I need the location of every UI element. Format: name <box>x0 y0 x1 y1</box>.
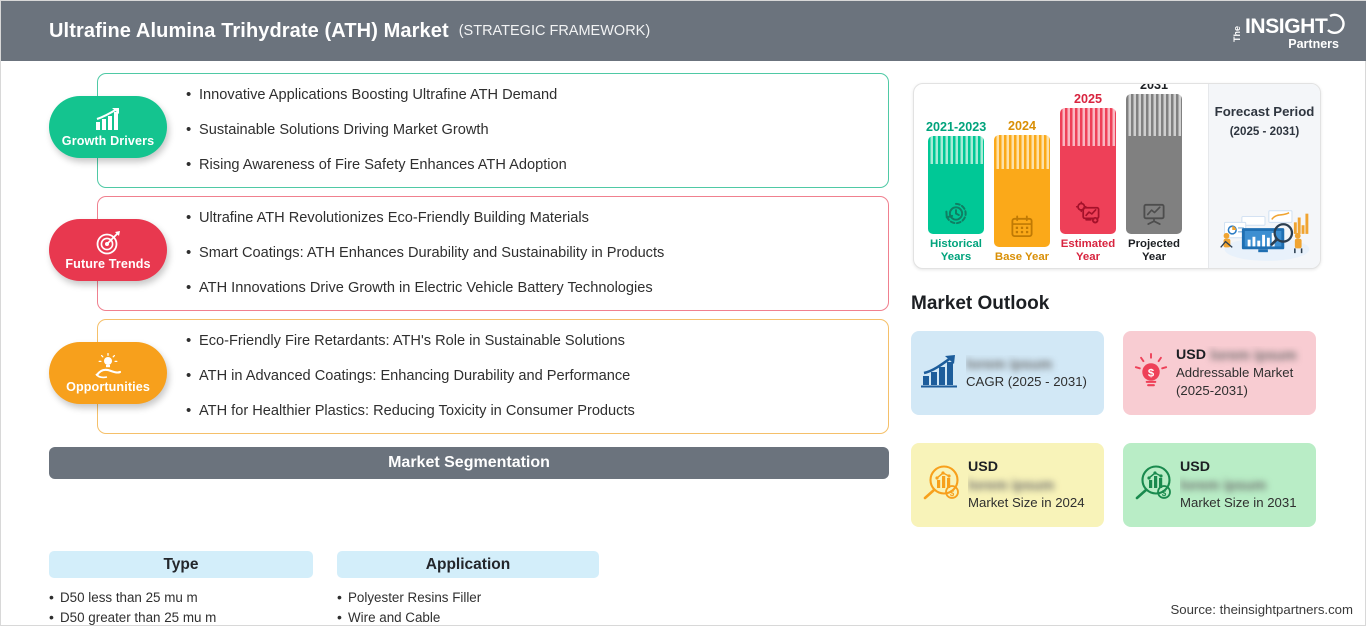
target-dart-icon <box>93 230 123 256</box>
badge-label: Growth Drivers <box>62 134 154 148</box>
svg-text:$: $ <box>1148 367 1155 379</box>
bar-shape <box>994 135 1050 247</box>
growth-bar-chart-icon <box>921 354 959 393</box>
outlook-usd-label: USD <box>1176 347 1206 363</box>
bar-caption: Historical Years <box>926 238 986 264</box>
outlook-value-blurred: lorem ipsum <box>966 357 1052 373</box>
svg-text:Partners: Partners <box>1288 37 1339 51</box>
bar-solid-body <box>994 169 1050 247</box>
outlook-caption: Addressable Market (2025-2031) <box>1176 365 1293 398</box>
bar-year-label: 2031 <box>1124 83 1184 92</box>
bar-striped-top <box>928 136 984 164</box>
badge-label: Future Trends <box>65 257 150 271</box>
outlook-caption: CAGR (2025 - 2031) <box>966 374 1087 389</box>
history-clock-icon <box>944 201 969 226</box>
market-outlook-title: Market Outlook <box>911 293 1049 315</box>
bar-solid-body <box>1126 136 1182 234</box>
list-item: Innovative Applications Boosting Ultrafi… <box>186 87 872 104</box>
magnifier-chart-icon: $ <box>1133 464 1173 507</box>
left-column: Innovative Applications Boosting Ultrafi… <box>1 61 901 626</box>
future-trends-bullet-list: Ultrafine ATH Revolutionizes Eco-Friendl… <box>98 197 888 310</box>
forecast-bar-projected: 2031 Projected Year <box>1124 83 1184 264</box>
outlook-card-market-size-2031[interactable]: $ USD lorem ipsum Market Size in 2031 <box>1123 443 1316 527</box>
opportunities-bullet-list: Eco-Friendly Fire Retardants: ATH's Role… <box>98 320 888 433</box>
svg-text:$: $ <box>950 489 955 498</box>
bar-solid-body <box>1060 146 1116 234</box>
forecast-bars-group: 2021-2023 Historical Years <box>914 84 1202 269</box>
dashboard-analytics-illustration <box>1213 200 1317 262</box>
segment-item-list: D50 less than 25 mu m D50 greater than 2… <box>49 588 313 626</box>
magnifier-chart-icon: $ <box>921 464 961 507</box>
right-column: 2021-2023 Historical Years <box>901 61 1366 626</box>
outlook-card-text: USD lorem ipsum Market Size in 2031 <box>1180 458 1306 512</box>
market-segmentation-title: Market Segmentation <box>388 454 550 472</box>
forecast-bar-historical: 2021-2023 Historical Years <box>926 120 986 264</box>
panel-opportunities: Eco-Friendly Fire Retardants: ATH's Role… <box>97 319 889 434</box>
bar-striped-top <box>994 135 1050 169</box>
page-subtitle: (STRATEGIC FRAMEWORK) <box>459 23 650 39</box>
list-item: Sustainable Solutions Driving Market Gro… <box>186 122 872 139</box>
outlook-card-text: lorem ipsum CAGR (2025 - 2031) <box>966 355 1094 391</box>
bar-caption: Estimated Year <box>1058 238 1118 264</box>
outlook-value-blurred: lorem ipsum <box>1180 478 1266 494</box>
svg-text:INSIGHT: INSIGHT <box>1245 15 1328 38</box>
bar-solid-body <box>928 164 984 234</box>
analytics-gear-icon <box>1076 201 1101 226</box>
panel-future-trends: Ultrafine ATH Revolutionizes Eco-Friendl… <box>97 196 889 311</box>
calendar-icon <box>1010 214 1035 239</box>
badge-growth-drivers[interactable]: Growth Drivers <box>49 96 167 158</box>
outlook-card-cagr[interactable]: lorem ipsum CAGR (2025 - 2031) <box>911 331 1104 415</box>
outlook-value-blurred: lorem ipsum <box>968 478 1054 494</box>
list-item: ATH for Healthier Plastics: Reducing Tox… <box>186 403 872 420</box>
outlook-card-text: USD lorem ipsum Market Size in 2024 <box>968 458 1094 512</box>
list-item: ATH in Advanced Coatings: Enhancing Dura… <box>186 368 872 385</box>
market-segmentation-header: Market Segmentation <box>49 447 889 479</box>
list-item: Wire and Cable <box>337 608 599 626</box>
bar-striped-top <box>1060 108 1116 146</box>
outlook-card-addressable-market[interactable]: $ USD lorem ipsum Addressable Market (20… <box>1123 331 1316 415</box>
insight-partners-logo: The INSIGHT Partners <box>1229 8 1349 54</box>
outlook-card-market-size-2024[interactable]: $ USD lorem ipsum Market Size in 2024 <box>911 443 1104 527</box>
outlook-caption: Market Size in 2031 <box>1180 495 1297 510</box>
segment-column-header: Type <box>49 551 313 578</box>
forecast-period-title: Forecast Period <box>1209 104 1320 121</box>
badge-label: Opportunities <box>66 380 150 394</box>
outlook-value-blurred: lorem ipsum <box>1210 348 1296 364</box>
badge-opportunities[interactable]: Opportunities <box>49 342 167 404</box>
list-item: Eco-Friendly Fire Retardants: ATH's Role… <box>186 333 872 350</box>
segment-column-application: Application Polyester Resins Filler Wire… <box>337 551 599 626</box>
forecast-period-panel: Forecast Period (2025 - 2031) <box>1208 84 1320 268</box>
outlook-caption: Market Size in 2024 <box>968 495 1085 510</box>
bar-shape <box>1126 94 1182 234</box>
page-header: Ultrafine Alumina Trihydrate (ATH) Marke… <box>1 1 1366 61</box>
bar-shape <box>928 136 984 234</box>
dollar-bulb-icon: $ <box>1133 352 1169 395</box>
list-item: Rising Awareness of Fire Safety Enhances… <box>186 157 872 174</box>
svg-text:The: The <box>1232 26 1242 42</box>
bar-caption: Base Year <box>992 251 1052 264</box>
list-item: D50 less than 25 mu m <box>49 588 313 608</box>
segment-column-header: Application <box>337 551 599 578</box>
badge-future-trends[interactable]: Future Trends <box>49 219 167 281</box>
outlook-card-text: USD lorem ipsum Addressable Market (2025… <box>1176 346 1306 400</box>
hand-lightbulb-icon <box>93 353 123 379</box>
growth-drivers-bullet-list: Innovative Applications Boosting Ultrafi… <box>98 74 888 187</box>
infographic-page: Ultrafine Alumina Trihydrate (ATH) Marke… <box>0 0 1366 626</box>
bar-year-label: 2024 <box>992 119 1052 133</box>
projection-screen-icon <box>1142 201 1167 226</box>
list-item: Polyester Resins Filler <box>337 588 599 608</box>
list-item: ATH Innovations Drive Growth in Electric… <box>186 280 872 297</box>
bar-chart-arrow-icon <box>93 107 123 133</box>
bar-shape <box>1060 108 1116 234</box>
svg-text:$: $ <box>1162 489 1167 498</box>
logo-mark-icon: The INSIGHT Partners <box>1229 8 1349 54</box>
forecast-bar-base: 2024 <box>992 119 1052 264</box>
list-item: Smart Coatings: ATH Enhances Durability … <box>186 245 872 262</box>
outlook-usd-label: USD <box>1180 459 1210 475</box>
segment-column-type: Type D50 less than 25 mu m D50 greater t… <box>49 551 313 626</box>
forecast-period-card: 2021-2023 Historical Years <box>913 83 1321 269</box>
outlook-usd-label: USD <box>968 459 998 475</box>
list-item: Ultrafine ATH Revolutionizes Eco-Friendl… <box>186 210 872 227</box>
list-item: D50 greater than 25 mu m <box>49 608 313 626</box>
segment-item-list: Polyester Resins Filler Wire and Cable A… <box>337 588 599 626</box>
forecast-period-range: (2025 - 2031) <box>1209 125 1320 138</box>
page-title: Ultrafine Alumina Trihydrate (ATH) Marke… <box>49 20 449 43</box>
bar-year-label: 2025 <box>1058 92 1118 106</box>
panel-growth-drivers: Innovative Applications Boosting Ultrafi… <box>97 73 889 188</box>
bar-year-label: 2021-2023 <box>926 120 986 134</box>
bar-striped-top <box>1126 94 1182 136</box>
bar-caption: Projected Year <box>1124 238 1184 264</box>
forecast-bar-estimated: 2025 <box>1058 92 1118 264</box>
source-attribution: Source: theinsightpartners.com <box>1170 602 1353 617</box>
